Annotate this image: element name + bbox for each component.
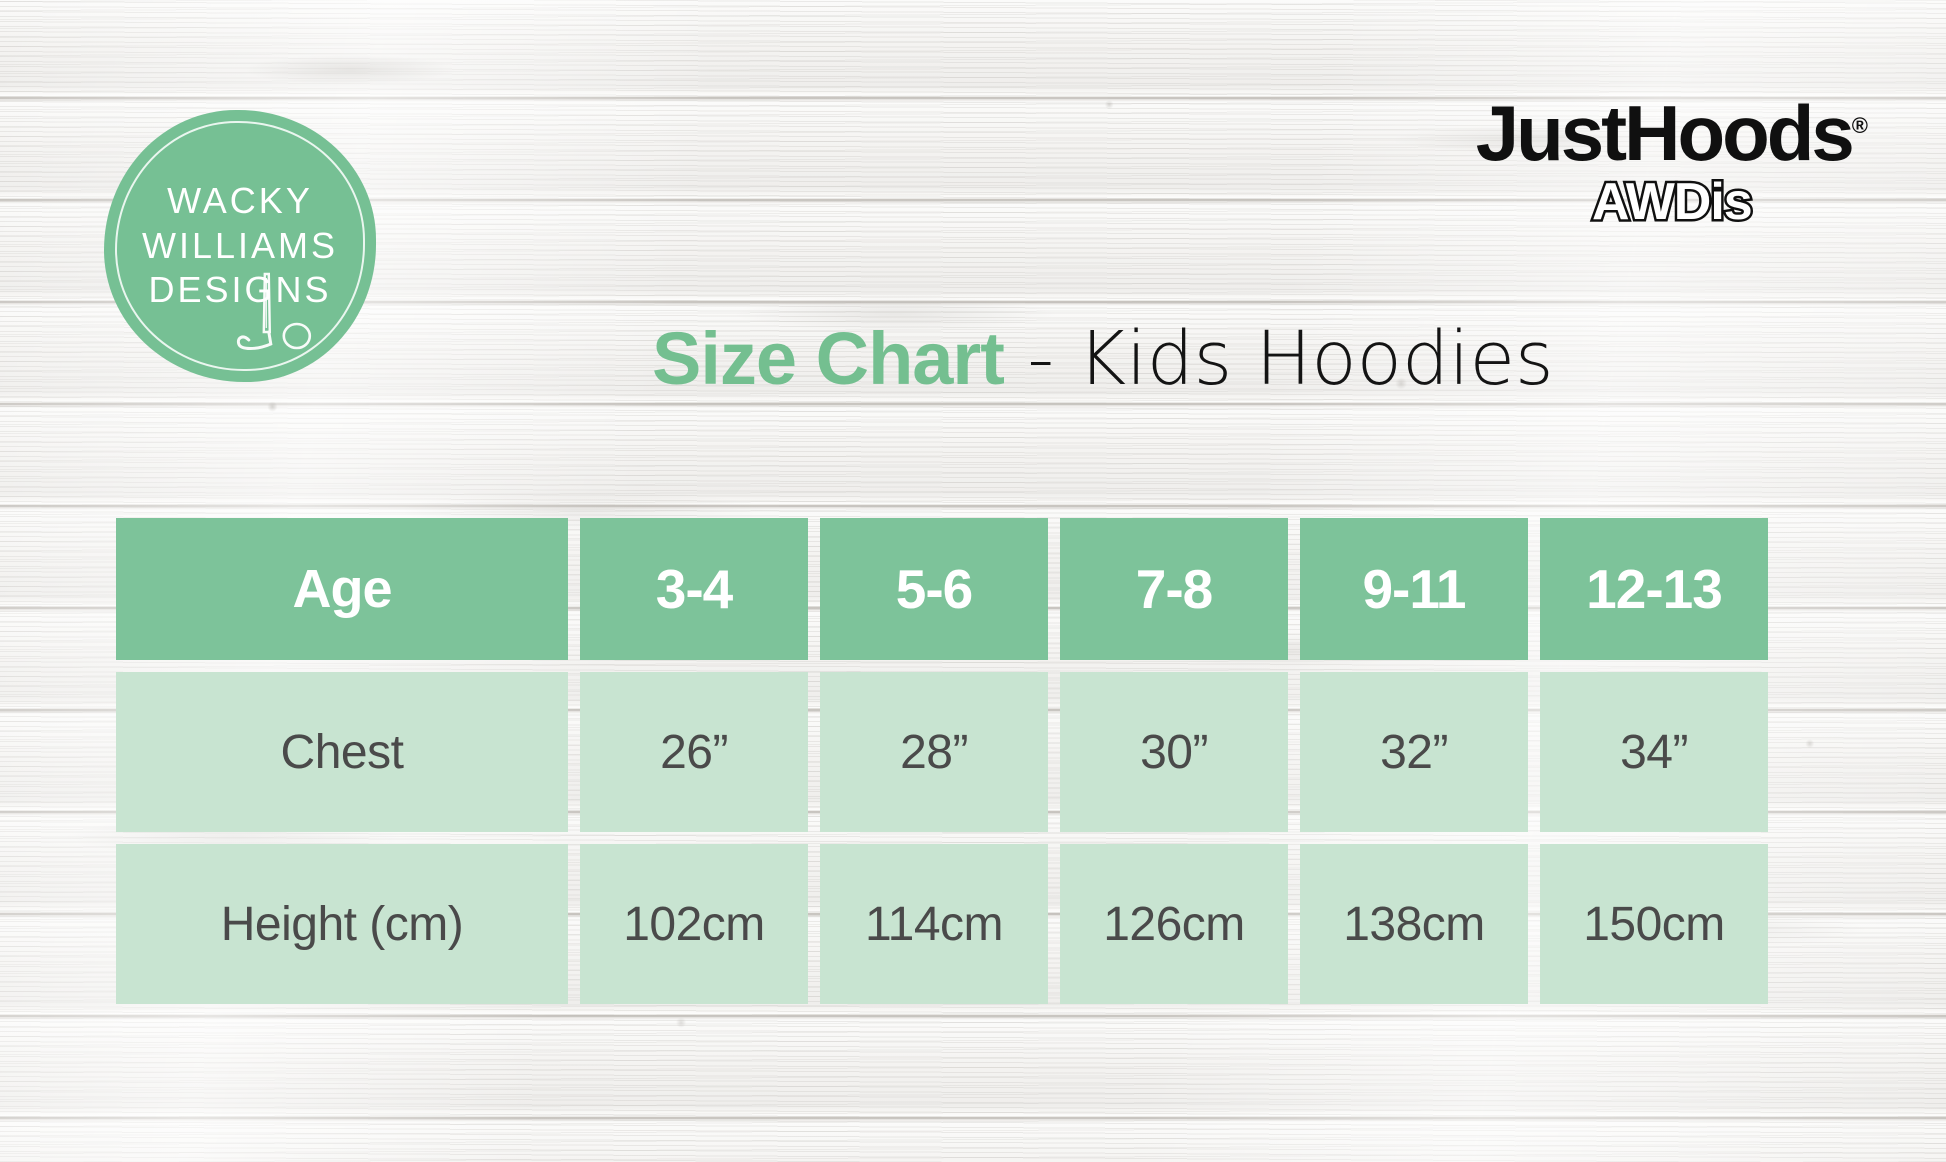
height-value-2: 114cm — [865, 897, 1003, 952]
height-value-cell-4: 138cm — [1300, 844, 1528, 1004]
size-chart-page: WACKY WILLIAMS DESIGNS JustHoods® AWDis … — [0, 0, 1946, 1162]
header-label-size-2: 5-6 — [896, 557, 973, 621]
logo-line-3: DESIGNS — [148, 272, 331, 309]
table-row-height: Height (cm) 102cm 114cm 126cm 138cm 150c… — [116, 844, 1832, 1004]
row-label-cell-height: Height (cm) — [116, 844, 568, 1004]
header-label-size-4: 9-11 — [1362, 557, 1465, 621]
header-cell-age: Age — [116, 518, 568, 660]
row-label-height: Height (cm) — [221, 897, 464, 952]
height-value-5: 150cm — [1583, 897, 1725, 952]
page-title: Size Chart - Kids Hoodies — [652, 322, 1554, 396]
header-cell-size-4: 9-11 — [1300, 518, 1528, 660]
table-header-row: Age 3-4 5-6 7-8 9-11 12-13 — [116, 518, 1832, 660]
header-label-age: Age — [292, 558, 391, 620]
logo-line-2: WILLIAMS — [142, 228, 338, 265]
size-chart-table: Age 3-4 5-6 7-8 9-11 12-13 Chest 26 — [116, 518, 1832, 1004]
header-cell-size-3: 7-8 — [1060, 518, 1288, 660]
chest-value-cell-3: 30” — [1060, 672, 1288, 832]
registered-trademark-icon: ® — [1852, 113, 1868, 138]
brand-logo-block: JustHoods® AWDis — [1476, 96, 1868, 228]
chest-value-3: 30” — [1140, 725, 1208, 780]
height-value-cell-3: 126cm — [1060, 844, 1288, 1004]
header-cell-size-1: 3-4 — [580, 518, 808, 660]
chest-value-1: 26” — [660, 725, 728, 780]
table-row-chest: Chest 26” 28” 30” 32” 34” — [116, 672, 1832, 832]
justhoods-text: JustHoods — [1476, 89, 1852, 177]
chest-value-5: 34” — [1620, 725, 1688, 780]
height-value-4: 138cm — [1343, 897, 1485, 952]
header-label-size-3: 7-8 — [1136, 557, 1213, 621]
row-label-cell-chest: Chest — [116, 672, 568, 832]
page-title-accent: Size Chart — [652, 317, 1004, 400]
wacky-williams-designs-logo: WACKY WILLIAMS DESIGNS — [104, 110, 376, 382]
header-cell-size-2: 5-6 — [820, 518, 1048, 660]
chest-value-2: 28” — [900, 725, 968, 780]
height-value-cell-2: 114cm — [820, 844, 1048, 1004]
header-label-size-5: 12-13 — [1586, 557, 1722, 621]
header-label-size-1: 3-4 — [656, 557, 733, 621]
page-title-rest: - Kids Hoodies — [1004, 316, 1554, 402]
header-cell-size-5: 12-13 — [1540, 518, 1768, 660]
logo-line-1: WACKY — [167, 183, 313, 220]
justhoods-wordmark: JustHoods® — [1476, 96, 1868, 170]
chest-value-cell-2: 28” — [820, 672, 1048, 832]
height-value-3: 126cm — [1103, 897, 1245, 952]
chest-value-cell-4: 32” — [1300, 672, 1528, 832]
chest-value-cell-5: 34” — [1540, 672, 1768, 832]
awdis-wordmark: AWDis — [1476, 176, 1868, 228]
chest-value-cell-1: 26” — [580, 672, 808, 832]
row-label-chest: Chest — [281, 725, 404, 780]
height-value-cell-5: 150cm — [1540, 844, 1768, 1004]
chest-value-4: 32” — [1380, 725, 1448, 780]
height-value-cell-1: 102cm — [580, 844, 808, 1004]
height-value-1: 102cm — [623, 897, 765, 952]
